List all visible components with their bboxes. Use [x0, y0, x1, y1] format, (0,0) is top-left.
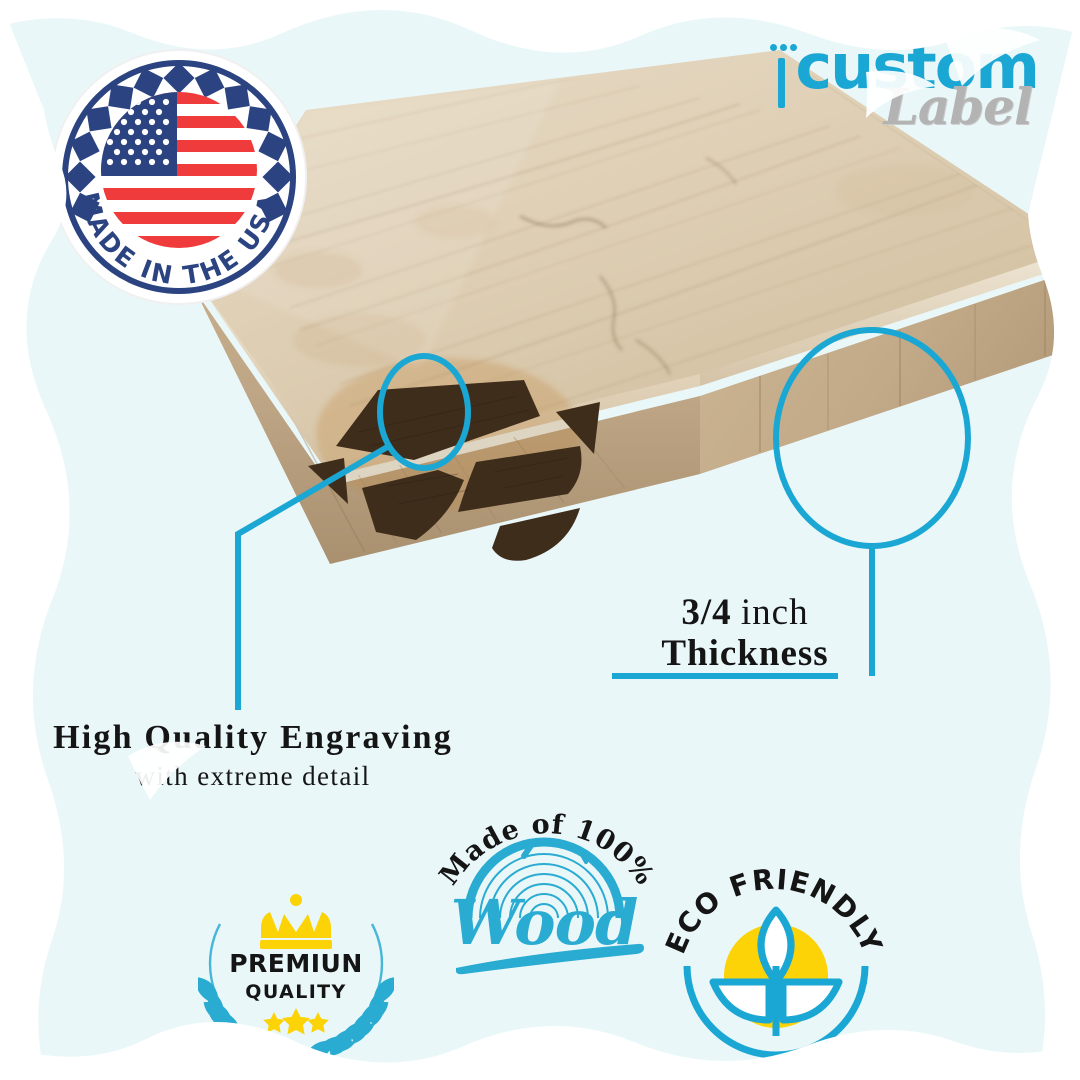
- thickness-callout-text: 3/4 inch Thickness: [640, 592, 850, 675]
- engraving-subline: with extreme detail: [18, 761, 488, 792]
- made-in-usa-badge: MADE IN THE USA: [48, 46, 310, 308]
- thickness-label: Thickness: [640, 633, 850, 674]
- thickness-value: 3/4: [681, 592, 731, 633]
- crown-icon: [260, 894, 332, 949]
- premium-quality-badge: PREMIUN QUALITY: [198, 862, 394, 1058]
- premium-line2: QUALITY: [245, 981, 346, 1003]
- made-of-wood-badge: Made of 100% Wood: [428, 786, 666, 978]
- rating-stars: [263, 1008, 329, 1035]
- engraving-callout-text: High Quality Engraving with extreme deta…: [18, 718, 488, 792]
- premium-line1: PREMIUN: [229, 949, 363, 978]
- brand-logo: custom Label: [769, 38, 1038, 132]
- infographic-canvas: 3/4 inch Thickness High Quality Engravin…: [0, 0, 1080, 1080]
- thickness-unit: inch: [741, 592, 809, 633]
- eco-friendly-badge: ECO FRIENDLY: [655, 858, 893, 1080]
- us-flag-circle: [101, 92, 257, 248]
- engraving-headline: High Quality Engraving: [18, 718, 488, 757]
- wood-arc-text: Made of 100%: [434, 809, 661, 891]
- i-dots-mark-icon: [769, 38, 795, 108]
